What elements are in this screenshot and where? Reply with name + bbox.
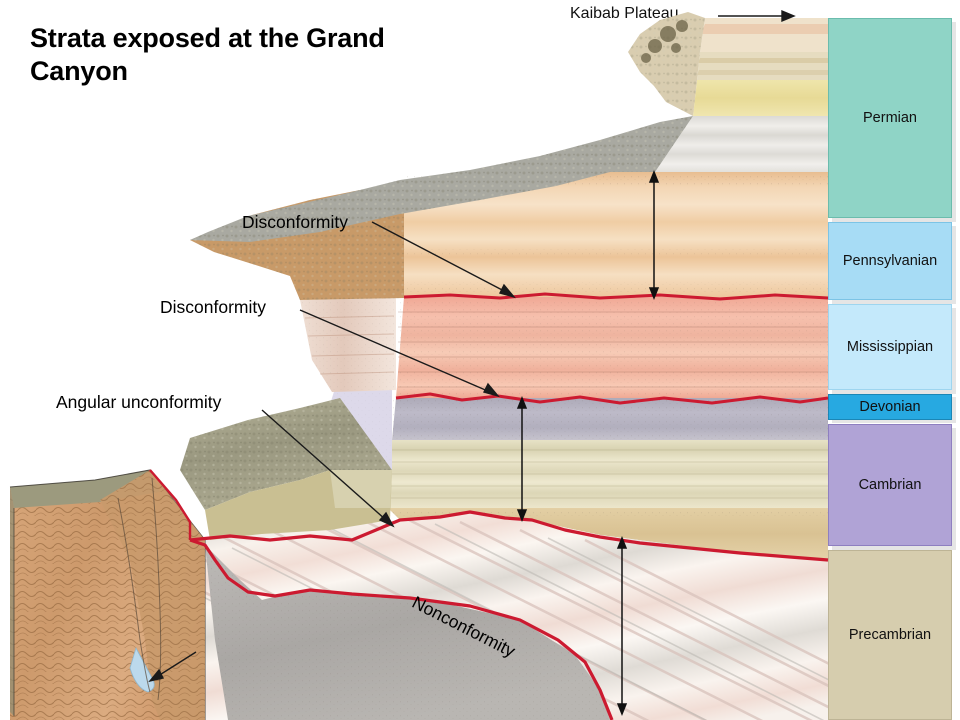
label-inner-gorge: Inner Gorge: [112, 590, 154, 624]
period-block-mississippian[interactable]: Mississippian: [828, 304, 952, 390]
label-kaibab-formation: Kaibab Formation: [740, 19, 826, 49]
period-label-devonian: Devonian: [859, 399, 920, 415]
label-unkar-group: Unkar Group: [633, 592, 675, 626]
annotation-disconformity-lower: Disconformity: [160, 297, 266, 317]
label-vishnu-schist: Vishnu Schist: [100, 700, 191, 717]
label-supai-group: Supai Group: [658, 230, 742, 247]
label-bright-angel-shale: Bright Angel Shale: [678, 461, 801, 478]
label-muav-limestone: Muav Limestone: [686, 413, 796, 430]
label-colorado-river: Colorado River: [198, 632, 259, 666]
period-block-pennsylvanian[interactable]: Pennsylvanian: [828, 222, 952, 300]
period-label-permian: Permian: [863, 110, 917, 126]
label-zoroaster-granite: Zoroaster Granite: [300, 665, 418, 682]
grand-canyon-strata-diagram: Strata exposed at the Grand Canyon Permi…: [0, 0, 960, 720]
page-title: Strata exposed at the Grand Canyon: [30, 22, 450, 88]
annotation-angular-unconformity: Angular unconformity: [56, 392, 221, 412]
label-toroweap-formation: Toroweap Formation: [736, 48, 830, 78]
period-label-mississippian: Mississippian: [847, 339, 933, 355]
label-hermit-shale: Hermit Shale: [712, 132, 799, 149]
period-block-cambrian[interactable]: Cambrian: [828, 424, 952, 546]
period-block-precambrian[interactable]: Precambrian: [828, 550, 952, 720]
period-block-permian[interactable]: Permian: [828, 18, 952, 218]
label-tonto-group: Tonto Group: [534, 443, 576, 477]
period-label-cambrian: Cambrian: [859, 477, 922, 493]
label-kaibab-plateau: Kaibab Plateau: [570, 5, 679, 23]
annotation-disconformity-upper: Disconformity: [242, 212, 348, 232]
period-label-pennsylvanian: Pennsylvanian: [843, 253, 937, 269]
label-redwall-limestone: Redwall Limestone: [534, 344, 661, 361]
label-coconino-sandstone: Coconino Sandstone: [718, 82, 822, 113]
annotation-nonconformity: Nonconformity: [409, 592, 519, 661]
label-tapeats-sandstone: Tapeats Sandstone: [678, 512, 806, 529]
period-block-devonian[interactable]: Devonian: [828, 394, 952, 420]
period-label-precambrian: Precambrian: [849, 627, 931, 643]
geologic-period-column: Permian Pennsylvanian Mississippian Devo…: [828, 0, 960, 720]
